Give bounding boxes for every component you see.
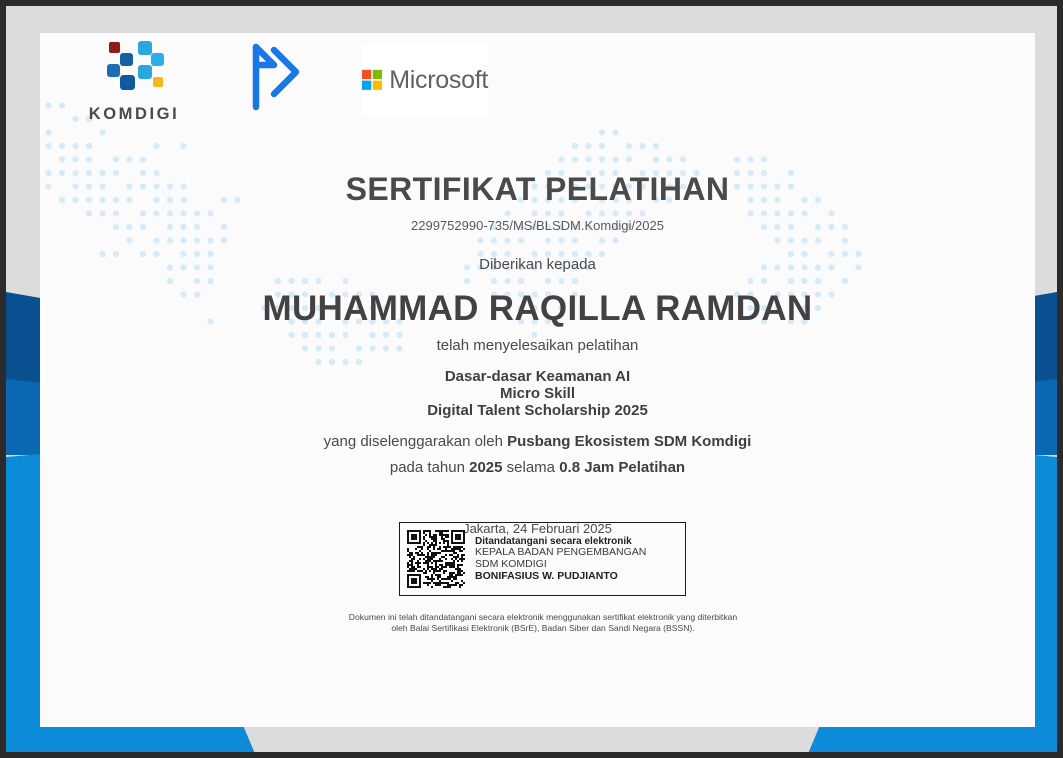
duration-line: pada tahun 2025 selama 0.8 Jam Pelatihan (40, 459, 1035, 476)
signature-signer-name: BONIFASIUS W. PUDJIANTO (475, 571, 646, 583)
duration-year: 2025 (469, 459, 502, 476)
completed-label: telah menyelesaikan pelatihan (40, 337, 1035, 354)
digital-talent-scholarship-logo-icon (250, 42, 302, 112)
signature-text-block: Ditandatangani secara elektronik KEPALA … (475, 536, 646, 582)
certificate-number: 2299752990-735/MS/BLSDM.Komdigi/2025 (40, 218, 1035, 233)
microsoft-logo: Microsoft (362, 44, 488, 116)
electronic-signature-box: Ditandatangani secara elektronik KEPALA … (399, 522, 686, 596)
microsoft-squares-icon (362, 63, 382, 97)
qr-code[interactable] (407, 530, 465, 588)
signature-line-3: SDM KOMDIGI (475, 559, 646, 571)
komdigi-wordmark: KOMDIGI (70, 105, 198, 124)
course-line-3: Digital Talent Scholarship 2025 (40, 402, 1035, 419)
komdigi-logo: KOMDIGI (70, 40, 198, 124)
logo-row: KOMDIGI Microsoft (70, 40, 488, 124)
duration-middle: selama (503, 459, 560, 476)
document-page: KOMDIGI Microsoft (6, 6, 1057, 752)
duration-hours: 0.8 Jam Pelatihan (559, 459, 685, 476)
certificate-card: KOMDIGI Microsoft (40, 33, 1035, 727)
screenshot-stage: KOMDIGI Microsoft (0, 0, 1063, 758)
komdigi-mark-icon (101, 40, 167, 102)
microsoft-wordmark: Microsoft (389, 66, 488, 95)
recipient-name: MUHAMMAD RAQILLA RAMDAN (40, 289, 1035, 329)
given-to-label: Diberikan kepada (40, 256, 1035, 273)
course-block: Dasar-dasar Keamanan AI Micro Skill Digi… (40, 368, 1035, 419)
organizer-name: Pusbang Ekosistem SDM Komdigi (507, 433, 751, 450)
certificate-title: SERTIFIKAT PELATIHAN (40, 171, 1035, 208)
course-line-2: Micro Skill (40, 385, 1035, 402)
organizer-line: yang diselenggarakan oleh Pusbang Ekosis… (40, 433, 1035, 450)
electronic-signature-disclaimer: Dokumen ini telah ditandatangani secara … (343, 612, 743, 633)
organizer-prefix: yang diselenggarakan oleh (324, 433, 507, 450)
course-line-1: Dasar-dasar Keamanan AI (40, 368, 1035, 385)
duration-prefix: pada tahun (390, 459, 469, 476)
